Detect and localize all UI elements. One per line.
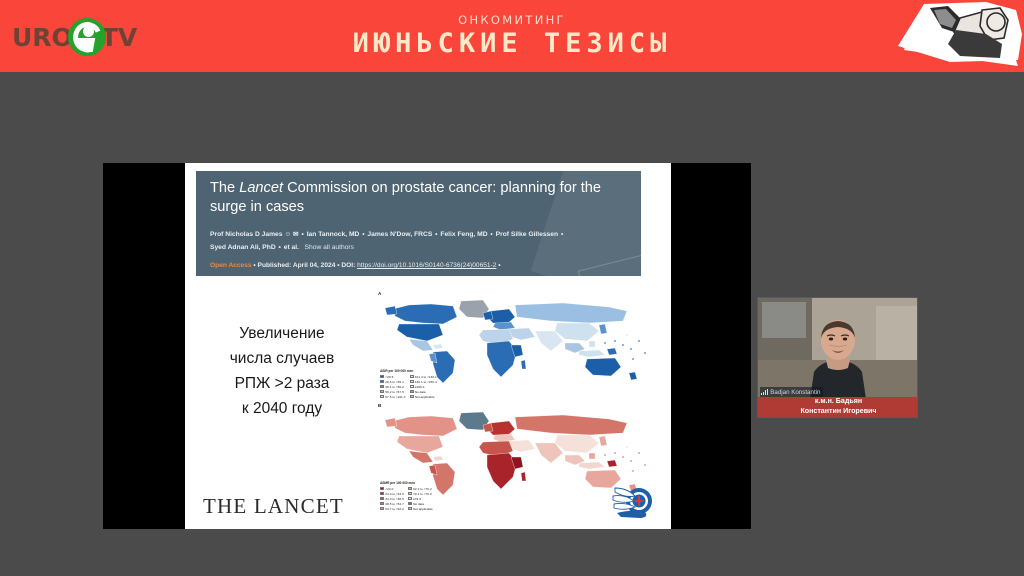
lancet-article-header-card: The Lancet Commission on prostate cancer… (196, 171, 641, 276)
legend-b-left-2: 34·0 to <48·5 (385, 497, 404, 501)
screen-share-region: The Lancet Commission on prostate cancer… (103, 163, 751, 529)
legend-a-left-0: <29·5 (385, 375, 393, 379)
callout-line-0: Увеличение (197, 321, 367, 346)
figure-panel-a: A (375, 291, 660, 401)
author-name-2[interactable]: James N'Dow, FRCS (367, 231, 432, 238)
legend-b-left-4: 54·7 to <62·2 (385, 507, 404, 511)
banner-title: ИЮНЬСКИЕ ТЕЗИСЫ (353, 30, 672, 57)
article-title-part1: The (210, 180, 239, 196)
legend-a-right-3: No data (415, 390, 426, 394)
legend-a-left-3: 50·2 to <67·5 (385, 390, 404, 394)
legend-panel-b: ASMR per 100 000 men <24·0 24·0 to <34·0… (380, 481, 433, 511)
legend-a-right-1: 130·1 to <156·4 (415, 380, 437, 384)
legend-a-right-2: ≥156·4 (415, 385, 425, 389)
banner-text-group: ОНКОМИТИНГ ИЮНЬСКИЕ ТЕЗИСЫ (0, 0, 1024, 72)
author-name-4[interactable]: Prof Silke Gillessen (496, 231, 558, 238)
legend-b-right-4: Not applicable (413, 507, 433, 511)
legend-b-right-2: ≥79·0 (413, 497, 421, 501)
winged-caduceus-medical-emblem-icon (611, 482, 657, 524)
legend-a-title: ASIR per 100 000 men (380, 369, 437, 374)
author-name-5[interactable]: Syed Adnan Ali, PhD (210, 244, 276, 251)
author-name-3[interactable]: Felix Feng, MD (440, 231, 487, 238)
banner-subtitle: ОНКОМИТИНГ (458, 15, 566, 27)
legend-b-left-1: 24·0 to <34·0 (385, 492, 404, 496)
presentation-slide: The Lancet Commission on prostate cancer… (185, 163, 671, 529)
panel-a-letter: A (378, 291, 381, 296)
legend-b-right-1: 70·2 to <79·0 (413, 492, 432, 496)
callout-line-1: числа случаев (197, 346, 367, 371)
article-authors: Prof Nicholas D James ☺ ✉ • Ian Tannock,… (210, 228, 630, 254)
participant-name-plate: к.м.н. Бадьян Константин Игоревич (758, 397, 918, 417)
callout-line-2: РПЖ >2 раза (197, 371, 367, 396)
participant-camera-feed: Badjan Konstantin (758, 298, 918, 399)
screen-root: URO TV ОНКОМИТИНГ ИЮНЬСКИЕ ТЕЗИСЫ (0, 0, 1024, 576)
participant-name-line2: Константин Игоревич (800, 407, 876, 417)
article-metadata: Open Access • Published: April 04, 2024 … (210, 261, 630, 270)
doi-label: DOI: (341, 262, 355, 269)
event-banner: URO TV ОНКОМИТИНГ ИЮНЬСКИЕ ТЕЗИСЫ (0, 0, 1024, 72)
lancet-wordmark: THE LANCET (203, 494, 344, 519)
participant-video-tile[interactable]: Badjan Konstantin к.м.н. Бадьян Констант… (757, 297, 918, 418)
author-profile-icon[interactable]: ☺ (284, 231, 291, 238)
participant-connection-badge: Badjan Konstantin (760, 387, 823, 397)
constructivist-worker-raised-fist-icon (890, 0, 1024, 72)
legend-b-right-3: No data (413, 502, 424, 506)
legend-b-right-0: 62·2 to <70·2 (413, 487, 432, 491)
figure-world-maps: A (375, 291, 660, 511)
legend-panel-a: ASIR per 100 000 men <29·5 29·5 to <39·1… (380, 369, 437, 399)
slide-callout-text: Увеличение числа случаев РПЖ >2 раза к 2… (197, 321, 367, 421)
published-date: Published: April 04, 2024 (258, 262, 336, 269)
legend-a-right-0: 101·4 to <130·1 (415, 375, 437, 379)
doi-link[interactable]: https://doi.org/10.1016/S0140-6736(24)00… (357, 262, 496, 269)
author-name-0[interactable]: Prof Nicholas D James (210, 231, 282, 238)
author-email-icon[interactable]: ✉ (293, 231, 299, 238)
legend-a-left-1: 29·5 to <39·1 (385, 380, 404, 384)
author-name-1[interactable]: Ian Tannock, MD (307, 231, 360, 238)
participant-name-line1: к.м.н. Бадьян (815, 397, 862, 407)
signal-strength-icon (761, 389, 768, 395)
author-name-6: et al. (284, 244, 299, 251)
article-title: The Lancet Commission on prostate cancer… (210, 179, 620, 216)
callout-line-3: к 2040 году (197, 396, 367, 421)
legend-a-left-2: 39·1 to <50·2 (385, 385, 404, 389)
panel-b-letter: B (378, 403, 381, 408)
legend-a-left-4: 67·5 to <101·4 (385, 395, 405, 399)
show-all-authors-link[interactable]: Show all authors (305, 244, 354, 251)
legend-b-title: ASMR per 100 000 men (380, 481, 433, 486)
legend-a-right-4: Not applicable (415, 395, 435, 399)
open-access-badge[interactable]: Open Access (210, 262, 252, 269)
article-title-journal-italic: Lancet (239, 180, 283, 196)
legend-b-left-3: 48·5 to <54·7 (385, 502, 404, 506)
legend-b-left-0: <24·0 (385, 487, 393, 491)
participant-camera-label: Badjan Konstantin (770, 389, 820, 396)
